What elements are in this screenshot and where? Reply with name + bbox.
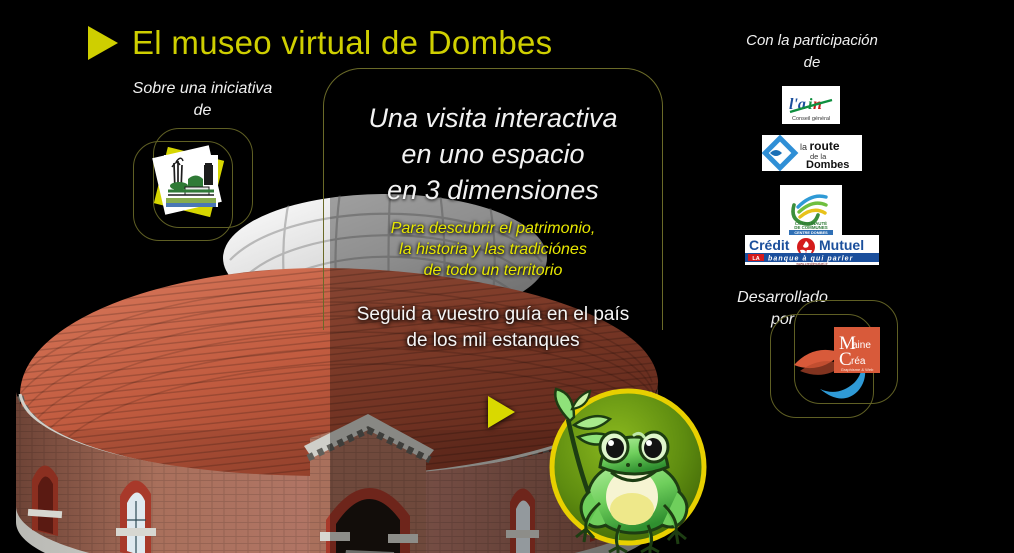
partners-caption-line-2: de: [712, 52, 912, 74]
svg-text:aine: aine: [852, 340, 871, 351]
credit-mutuel-logo[interactable]: Crédit Mutuel LA banque à qui parler www…: [745, 235, 879, 265]
poster-canvas: El museo virtual de Dombes Una visita in…: [0, 0, 1014, 553]
svg-text:réa: réa: [851, 356, 866, 367]
svg-text:la route: la route: [800, 139, 840, 153]
frog-mascot-badge[interactable]: [548, 385, 708, 553]
svg-text:Graphisme & Web: Graphisme & Web: [841, 367, 874, 372]
conseil-general-ain-logo[interactable]: l'a i n Conseil général: [782, 86, 840, 124]
headline: Una visita interactiva en uno espacio en…: [323, 100, 663, 209]
partners-caption: Con la participación de: [712, 30, 912, 74]
headline-line-2: en uno espacio: [323, 136, 663, 172]
headline-line-1: Una visita interactiva: [323, 100, 663, 136]
initiative-caption: Sobre una iniciativa de: [110, 78, 295, 123]
page-title-text: El museo virtual de Dombes: [132, 24, 552, 62]
communaute-communes-centre-dombes-logo[interactable]: COMMUNAUTÉ DE COMMUNES CENTRE DOMBES: [780, 185, 842, 235]
subheadline-line-1: Para descubrir el patrimonio,: [323, 218, 663, 239]
page-title: El museo virtual de Dombes: [88, 24, 552, 62]
subheadline: Para descubrir el patrimonio, la histori…: [323, 218, 663, 281]
cta-line-1: Seguid a vuestro guía en el país: [323, 302, 663, 328]
svg-text:Crédit: Crédit: [749, 237, 790, 253]
call-to-action: Seguid a vuestro guía en el país de los …: [323, 302, 663, 354]
subheadline-line-2: la historia y las tradiciónes: [323, 239, 663, 260]
headline-line-3: en 3 dimensiones: [323, 172, 663, 208]
svg-text:Dombes: Dombes: [806, 159, 849, 171]
play-triangle-icon[interactable]: [488, 396, 515, 428]
initiative-caption-line-2: de: [110, 100, 295, 122]
svg-text:DE COMMUNES: DE COMMUNES: [794, 225, 827, 230]
svg-text:Conseil général: Conseil général: [792, 116, 830, 122]
association-patrimoine-dombes-logo[interactable]: [152, 141, 230, 219]
initiative-caption-line-1: Sobre una iniciativa: [110, 78, 295, 100]
svg-text:LA: LA: [752, 256, 759, 262]
play-triangle-icon: [88, 26, 118, 60]
svg-text:Mutuel: Mutuel: [819, 237, 864, 253]
route-de-la-dombes-logo[interactable]: la route de la Dombes: [762, 135, 862, 171]
subheadline-line-3: de todo un territorio: [323, 260, 663, 281]
partners-caption-line-1: Con la participación: [712, 30, 912, 52]
svg-text:www.creditmutuel.fr: www.creditmutuel.fr: [796, 262, 828, 265]
mainecrea-logo[interactable]: M aine C réa Graphisme & Web: [790, 315, 886, 407]
cta-line-2: de los mil estanques: [323, 328, 663, 354]
